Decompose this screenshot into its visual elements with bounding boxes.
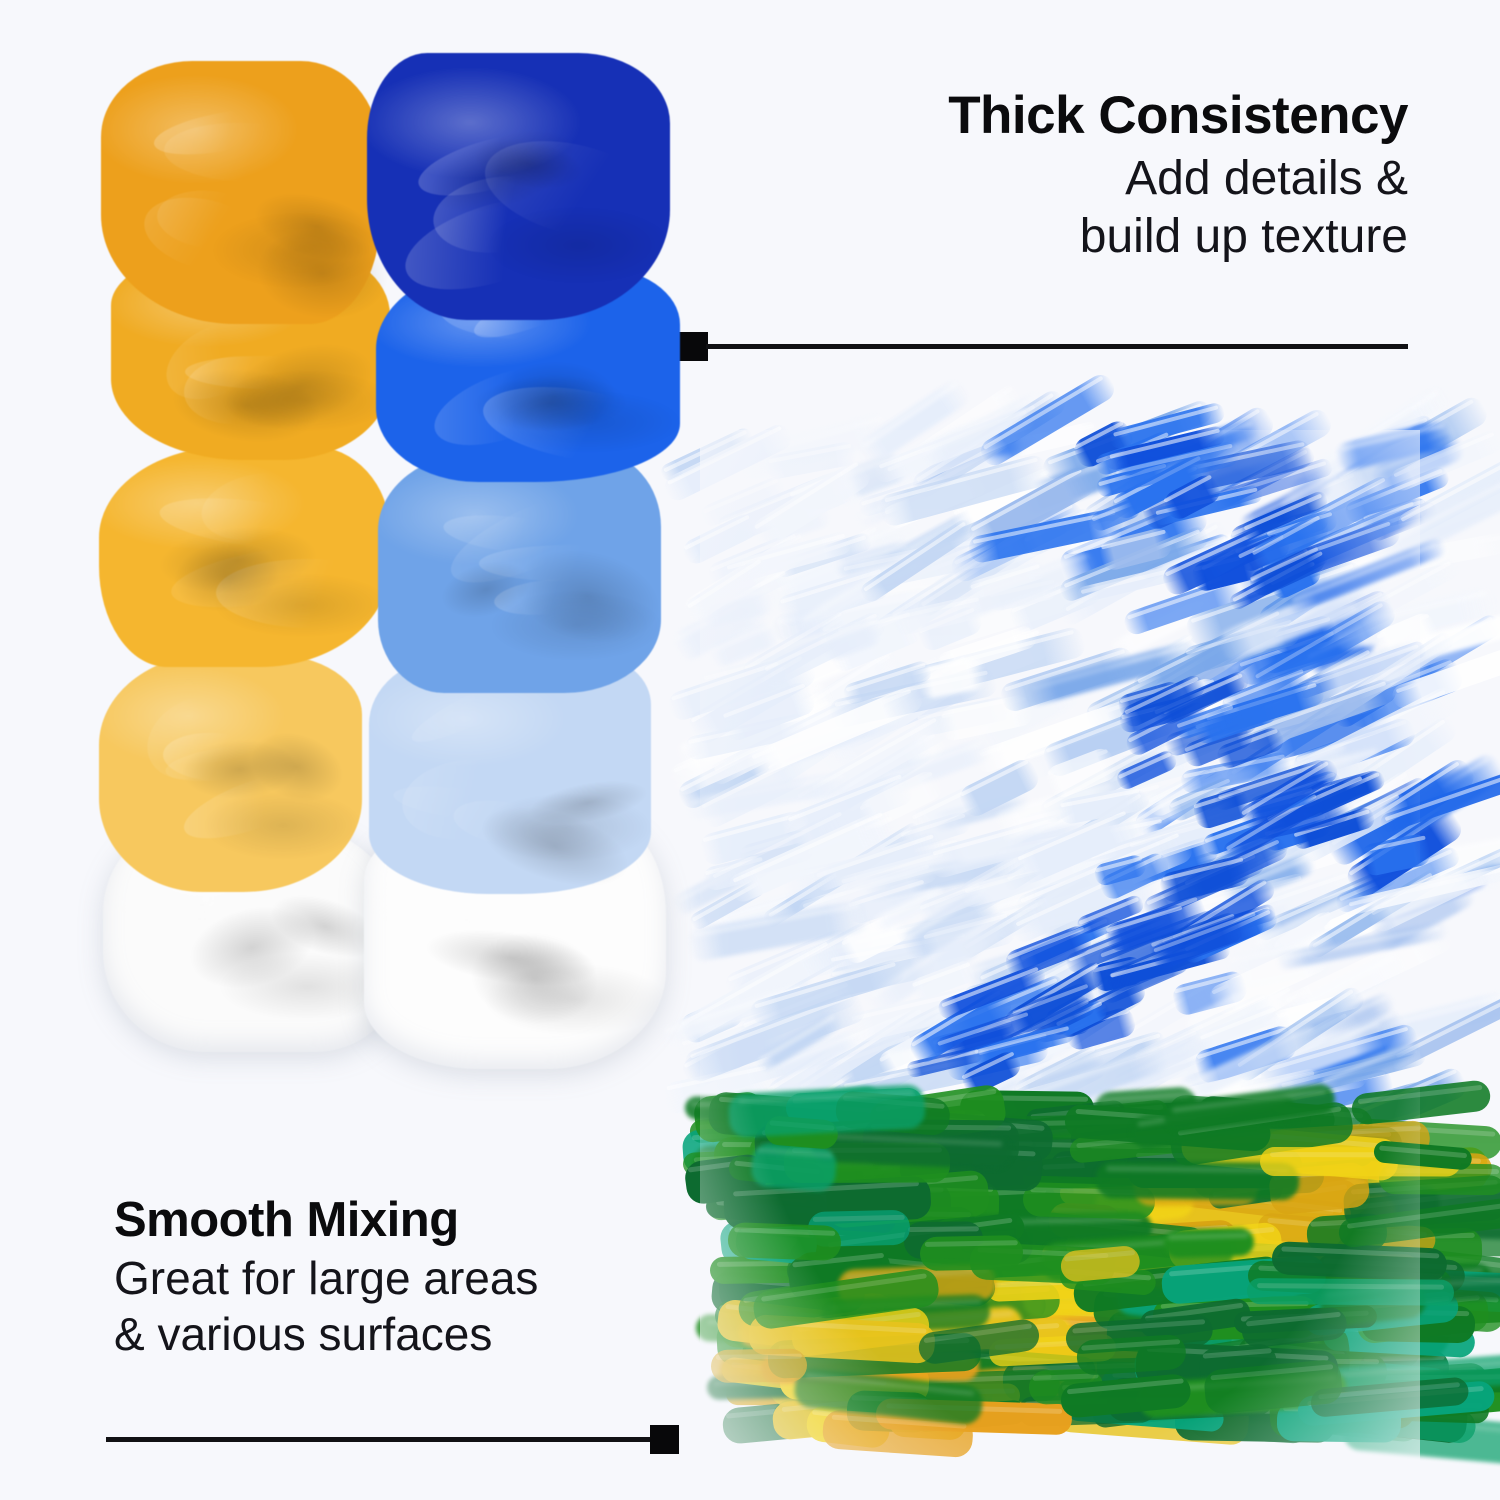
paint-ridge [478, 375, 680, 474]
paint-ridge [398, 752, 535, 846]
field-brush-stroke [750, 1142, 837, 1192]
paint-swatch [367, 53, 670, 321]
paint-shadow [470, 373, 629, 434]
field-brush-stroke [920, 1235, 1024, 1271]
field-brush-stroke [1163, 1228, 1253, 1259]
paint-shadow [505, 535, 671, 657]
callout-body-line: build up texture [948, 208, 1408, 266]
callout-thick-consistency: Thick Consistency Add details & build up… [948, 86, 1408, 266]
callout-heading: Smooth Mixing [114, 1192, 538, 1248]
connector-square-marker [650, 1425, 679, 1454]
field-brush-stroke [1076, 1333, 1187, 1376]
paint-ridge [181, 353, 291, 427]
paint-shadow [167, 360, 325, 451]
connector-line [106, 1437, 654, 1442]
callout-body: Add details & build up texture [948, 150, 1408, 266]
paint-ridge [428, 168, 570, 259]
paint-shadow [169, 536, 283, 617]
paint-ridge [395, 180, 593, 308]
callout-body-line: & various surfaces [114, 1306, 538, 1362]
connector-square-marker [679, 332, 708, 361]
field-brush-stroke [728, 1222, 842, 1261]
paint-shadow [179, 737, 299, 802]
paint-ridge [392, 914, 541, 982]
paint-ridge [151, 101, 294, 163]
paint-shadow [524, 772, 651, 832]
paint-ridge [163, 739, 290, 787]
paint-ridge [155, 186, 265, 253]
paint-shadow [465, 924, 604, 1032]
paint-ridge [177, 757, 334, 852]
paint-ridge [479, 545, 654, 582]
product-feature-graphic: Thick Consistency Add details & build up… [0, 0, 1500, 1500]
paint-shadow [489, 359, 618, 434]
field-brush-stroke [710, 1349, 806, 1383]
paint-swatch [378, 452, 661, 693]
field-brush-stroke [1247, 1278, 1455, 1305]
callout-heading: Thick Consistency [948, 86, 1408, 146]
paint-ridge [166, 927, 289, 1004]
paint-ridge [440, 472, 630, 600]
paint-ridge [492, 575, 603, 620]
paint-ridge [424, 351, 586, 461]
paint-ridge [216, 558, 405, 629]
paint-ridge [441, 509, 583, 560]
paint-swatch [99, 654, 362, 892]
paint-ridge [133, 680, 260, 796]
paint-swatch [101, 61, 380, 324]
paint-shadow [418, 112, 587, 230]
paint-ridge [163, 121, 328, 186]
paint-shadow [180, 893, 324, 1002]
paint-shadow [241, 720, 353, 813]
paint-swatch [99, 446, 391, 667]
connector-line [706, 344, 1408, 349]
paint-ridge [167, 536, 364, 619]
paint-shadow [215, 328, 384, 446]
paint-ridge [162, 730, 267, 783]
callout-smooth-mixing: Smooth Mixing Great for large areas & va… [114, 1192, 538, 1362]
paint-shadow [421, 921, 601, 996]
paint-ridge [392, 780, 527, 826]
callout-body-line: Great for large areas [114, 1250, 538, 1306]
paint-ridge [196, 464, 321, 550]
paint-shadow [155, 521, 320, 600]
paint-swatch-gradient-artwork [96, 28, 656, 1048]
paint-swatch [369, 657, 651, 894]
callout-body-line: Add details & [948, 150, 1408, 208]
paint-ridge [137, 185, 275, 282]
callout-body: Great for large areas & various surfaces [114, 1250, 538, 1362]
paint-ridge [412, 121, 569, 208]
paint-ridge [185, 355, 348, 390]
paint-ridge [160, 912, 303, 1028]
paint-ridge [450, 794, 557, 852]
paint-ridge [157, 489, 348, 557]
paint-ridge [475, 125, 674, 255]
impasto-landscape-artwork [700, 430, 1420, 1470]
paint-shadow [469, 131, 587, 197]
paint-shadow [435, 552, 538, 627]
